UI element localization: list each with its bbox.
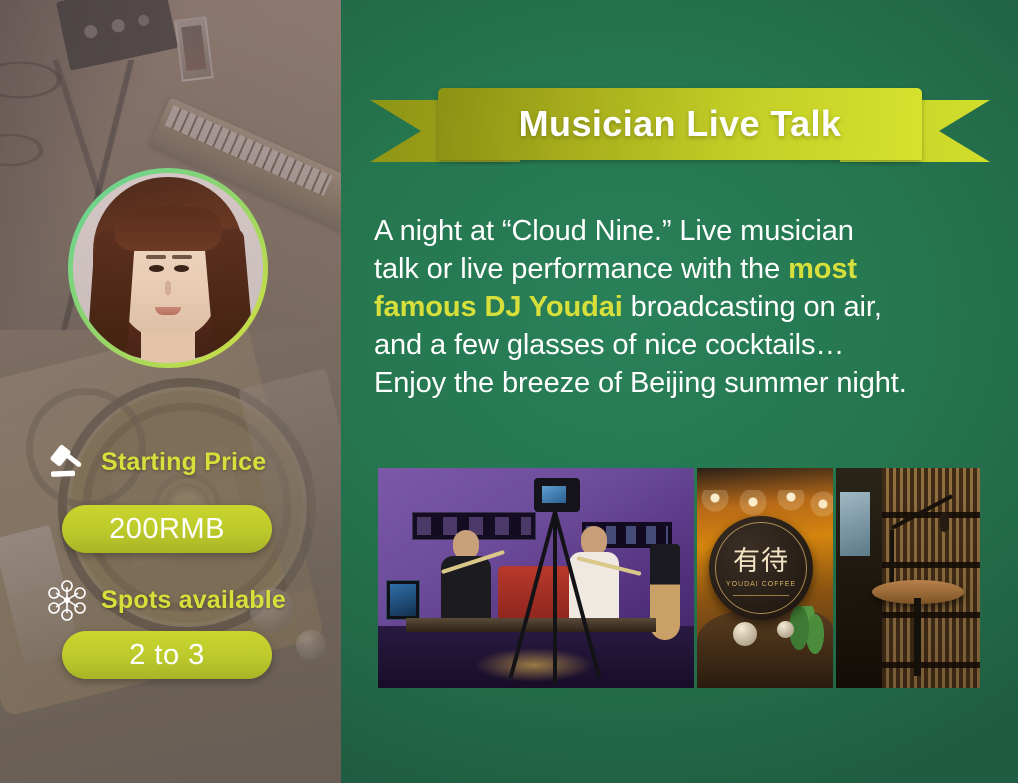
cafe-sign-english-text: YOUDAI COFFEE [726,581,796,588]
cafe-sign-photo[interactable]: 有待 YOUDAI COFFEE [697,468,833,688]
shop-window [840,492,870,556]
description-highlight-most: most [788,253,857,285]
avatar-ring [68,168,268,368]
studio-host-left [440,530,492,622]
host-left-body [441,556,491,626]
description-line-5: Enjoy the breeze of Beijing summer night… [374,364,999,402]
shop-mic-stand [890,530,894,586]
avatar-brow-right [172,255,192,259]
spots-available-row: Spots available [45,578,286,622]
studio-camera [534,478,580,512]
cafe-sign-chinese-text: 有待 [733,548,789,575]
network-nodes-icon [45,578,89,622]
avatar [73,173,263,363]
cafe-sign-divider [733,595,789,596]
avatar-fringe [114,207,222,251]
studio-camera-tripod [518,478,592,683]
avatar-mouth [155,307,181,315]
avatar-eye-left [149,265,164,272]
shop-table-leg [914,598,921,676]
cafe-knob-large [733,622,757,646]
shop-microphone [940,512,949,532]
right-content-panel: Musician Live Talk A night at “Cloud Nin… [341,0,1018,783]
cafe-plant [787,606,829,666]
avatar-brow-left [146,255,166,259]
ribbon-center: Musician Live Talk [438,88,922,160]
shop-shelf-rails [879,468,980,688]
gavel-icon [45,440,89,484]
description-line-4: and a few glasses of nice cocktails… [374,326,999,364]
description-line-3: famous DJ Youdai broadcasting on air, [374,288,999,326]
starting-price-value: 200RMB [109,513,225,546]
description-highlight-dj: famous DJ Youdai [374,291,623,323]
photo-gallery: 有待 YOUDAI COFFEE [378,468,980,688]
studio-monitor [386,580,420,620]
cafe-round-sign: 有待 YOUDAI COFFEE [709,516,813,620]
page-title: Musician Live Talk [519,103,842,145]
spots-available-value: 2 to 3 [129,639,205,672]
description-text: A night at “Cloud Nine.” Live musician t… [374,212,999,402]
spots-available-value-pill[interactable]: 2 to 3 [62,631,272,679]
tripod-leg-c [553,512,557,684]
avatar-eye-right [174,265,189,272]
description-line-3-text: broadcasting on air, [623,291,882,323]
description-line-2: talk or live performance with the most [374,250,999,288]
avatar-neck [141,331,195,363]
spots-available-label: Spots available [101,586,286,615]
avatar-nose [165,281,171,295]
description-line-2-text: talk or live performance with the [374,253,788,285]
cafe-knob-small [777,621,794,638]
title-ribbon: Musician Live Talk [370,88,990,168]
promo-card: Starting Price 200RMB [0,0,1018,783]
studio-live-talk-photo[interactable] [378,468,694,688]
starting-price-value-pill[interactable]: 200RMB [62,505,272,553]
description-line-1: A night at “Cloud Nine.” Live musician [374,212,999,250]
record-shop-photo[interactable] [836,468,980,688]
starting-price-row: Starting Price [45,440,266,484]
starting-price-label: Starting Price [101,448,266,477]
left-info-panel: Starting Price 200RMB [0,0,341,783]
